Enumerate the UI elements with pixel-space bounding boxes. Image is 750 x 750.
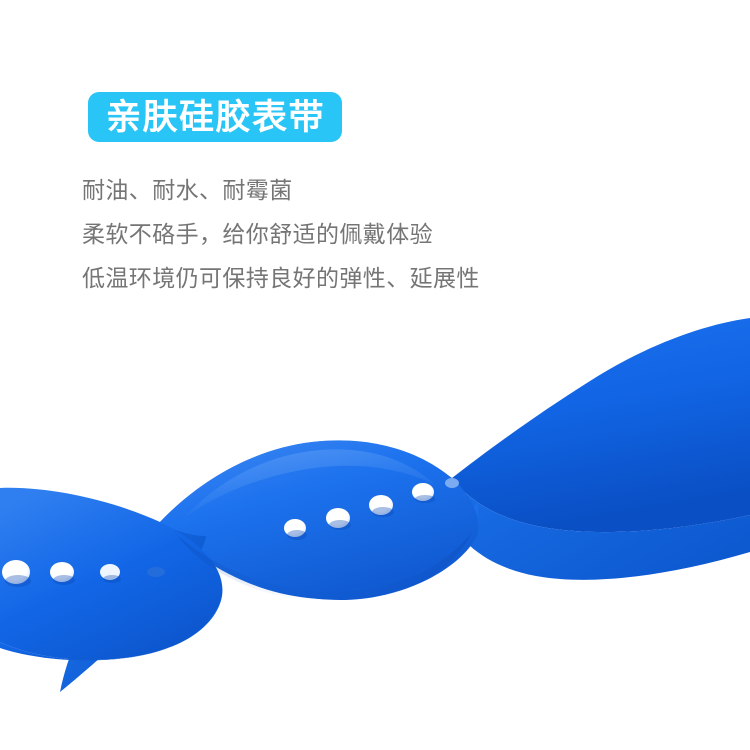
feature-line: 柔软不硌手，给你舒适的佩戴体验: [82, 212, 642, 256]
silicone-strap-illustration: [0, 300, 750, 750]
title-badge-label: 亲肤硅胶表带: [106, 100, 325, 135]
title-badge: 亲肤硅胶表带: [88, 92, 342, 142]
feature-line: 低温环境仍可保持良好的弹性、延展性: [82, 256, 642, 300]
strap-hole: [147, 567, 165, 577]
product-feature-banner: 亲肤硅胶表带 耐油、耐水、耐霉菌 柔软不硌手，给你舒适的佩戴体验 低温环境仍可保…: [0, 0, 750, 750]
strap-hole: [445, 478, 459, 488]
feature-line: 耐油、耐水、耐霉菌: [82, 168, 642, 212]
feature-list: 耐油、耐水、耐霉菌 柔软不硌手，给你舒适的佩戴体验 低温环境仍可保持良好的弹性、…: [82, 168, 642, 300]
product-photo: [0, 300, 750, 750]
